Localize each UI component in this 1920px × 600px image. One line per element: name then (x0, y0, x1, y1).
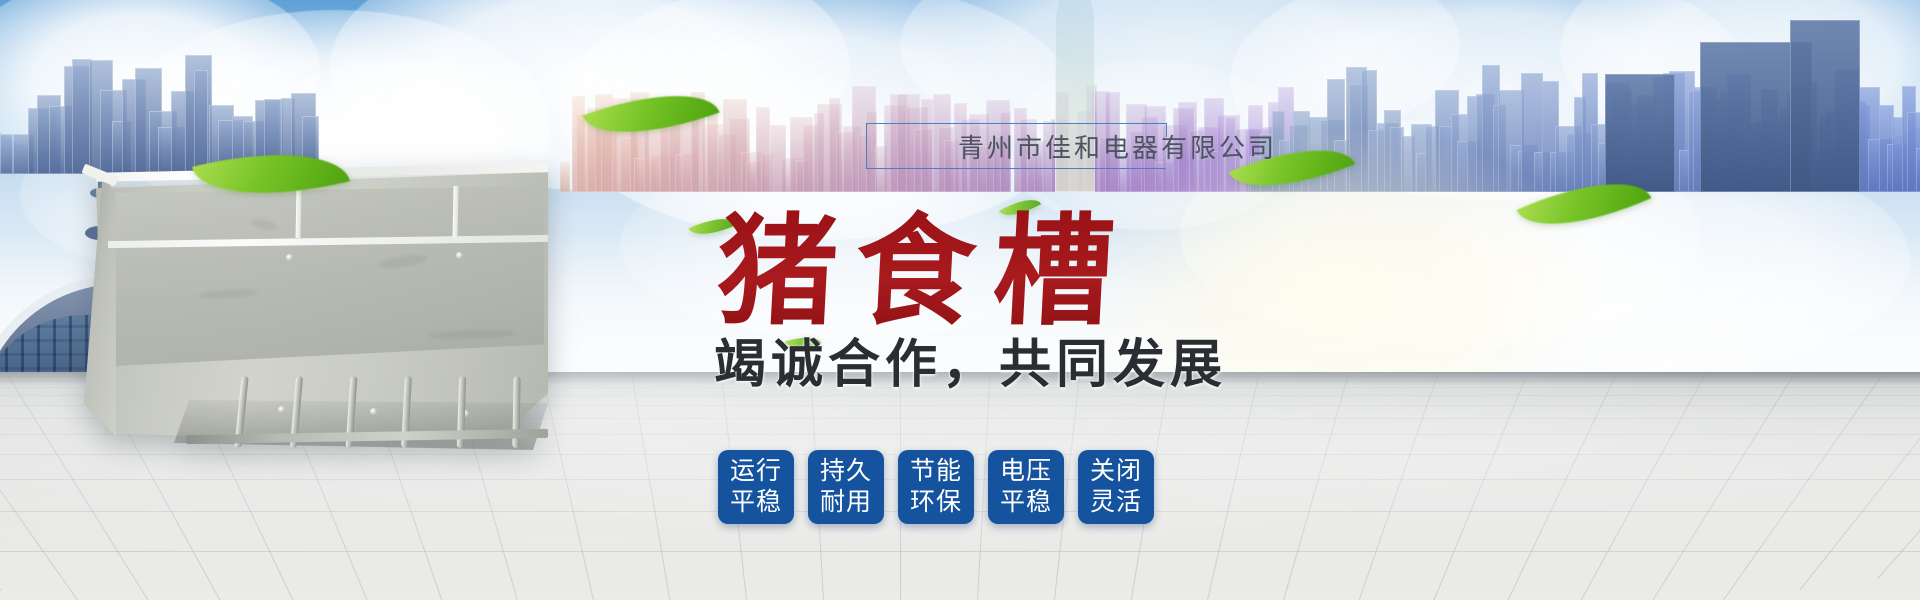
trough-bolt (456, 252, 463, 259)
feature-badge-1[interactable]: 运行平稳 (718, 450, 794, 524)
trough-bolt (286, 254, 293, 261)
badge-line-2: 环保 (910, 487, 962, 518)
feature-badge-list: 运行平稳持久耐用节能环保电压平稳关闭灵活 (718, 450, 1154, 524)
badge-line-1: 持久 (820, 456, 872, 487)
badge-line-1: 运行 (730, 456, 782, 487)
skyline-building (194, 70, 208, 174)
badge-line-1: 电压 (1000, 456, 1052, 487)
company-name: 青州市佳和电器有限公司 (958, 128, 1277, 165)
badge-line-2: 平稳 (1000, 487, 1052, 518)
trough-left-lip (81, 164, 118, 187)
feature-badge-5[interactable]: 关闭灵活 (1078, 450, 1154, 524)
badge-line-2: 平稳 (730, 487, 782, 518)
feature-badge-4[interactable]: 电压平稳 (988, 450, 1064, 524)
sub-title: 竭诚合作，共同发展 (714, 322, 1227, 397)
company-name-frame-underline (866, 168, 914, 169)
skyline-landmark-building (1605, 74, 1675, 192)
skyline-landmark-building (1790, 20, 1860, 192)
banner-text-block: 青州市佳和电器有限公司 猪食槽 猪食槽 竭诚合作，共同发展 运行平稳持久耐用节能… (700, 0, 1480, 600)
badge-line-1: 节能 (910, 456, 962, 487)
promo-banner: 青州市佳和电器有限公司 猪食槽 猪食槽 竭诚合作，共同发展 运行平稳持久耐用节能… (0, 0, 1920, 600)
trough-bolt (278, 406, 285, 413)
trough-strut (296, 186, 302, 238)
feature-badge-3[interactable]: 节能环保 (898, 450, 974, 524)
trough-inner-wall (106, 186, 544, 366)
product-image-trough (78, 160, 548, 460)
trough-body (78, 160, 548, 460)
badge-line-2: 耐用 (820, 487, 872, 518)
badge-line-2: 灵活 (1090, 487, 1142, 518)
trough-left-side-panel (84, 174, 116, 436)
skyline-building (0, 134, 13, 174)
skyline-building (560, 162, 570, 192)
badge-line-1: 关闭 (1090, 456, 1142, 487)
trough-bolt (370, 408, 377, 415)
trough-strut (453, 186, 459, 238)
feature-badge-2[interactable]: 持久耐用 (808, 450, 884, 524)
skyline-building (1916, 148, 1920, 192)
